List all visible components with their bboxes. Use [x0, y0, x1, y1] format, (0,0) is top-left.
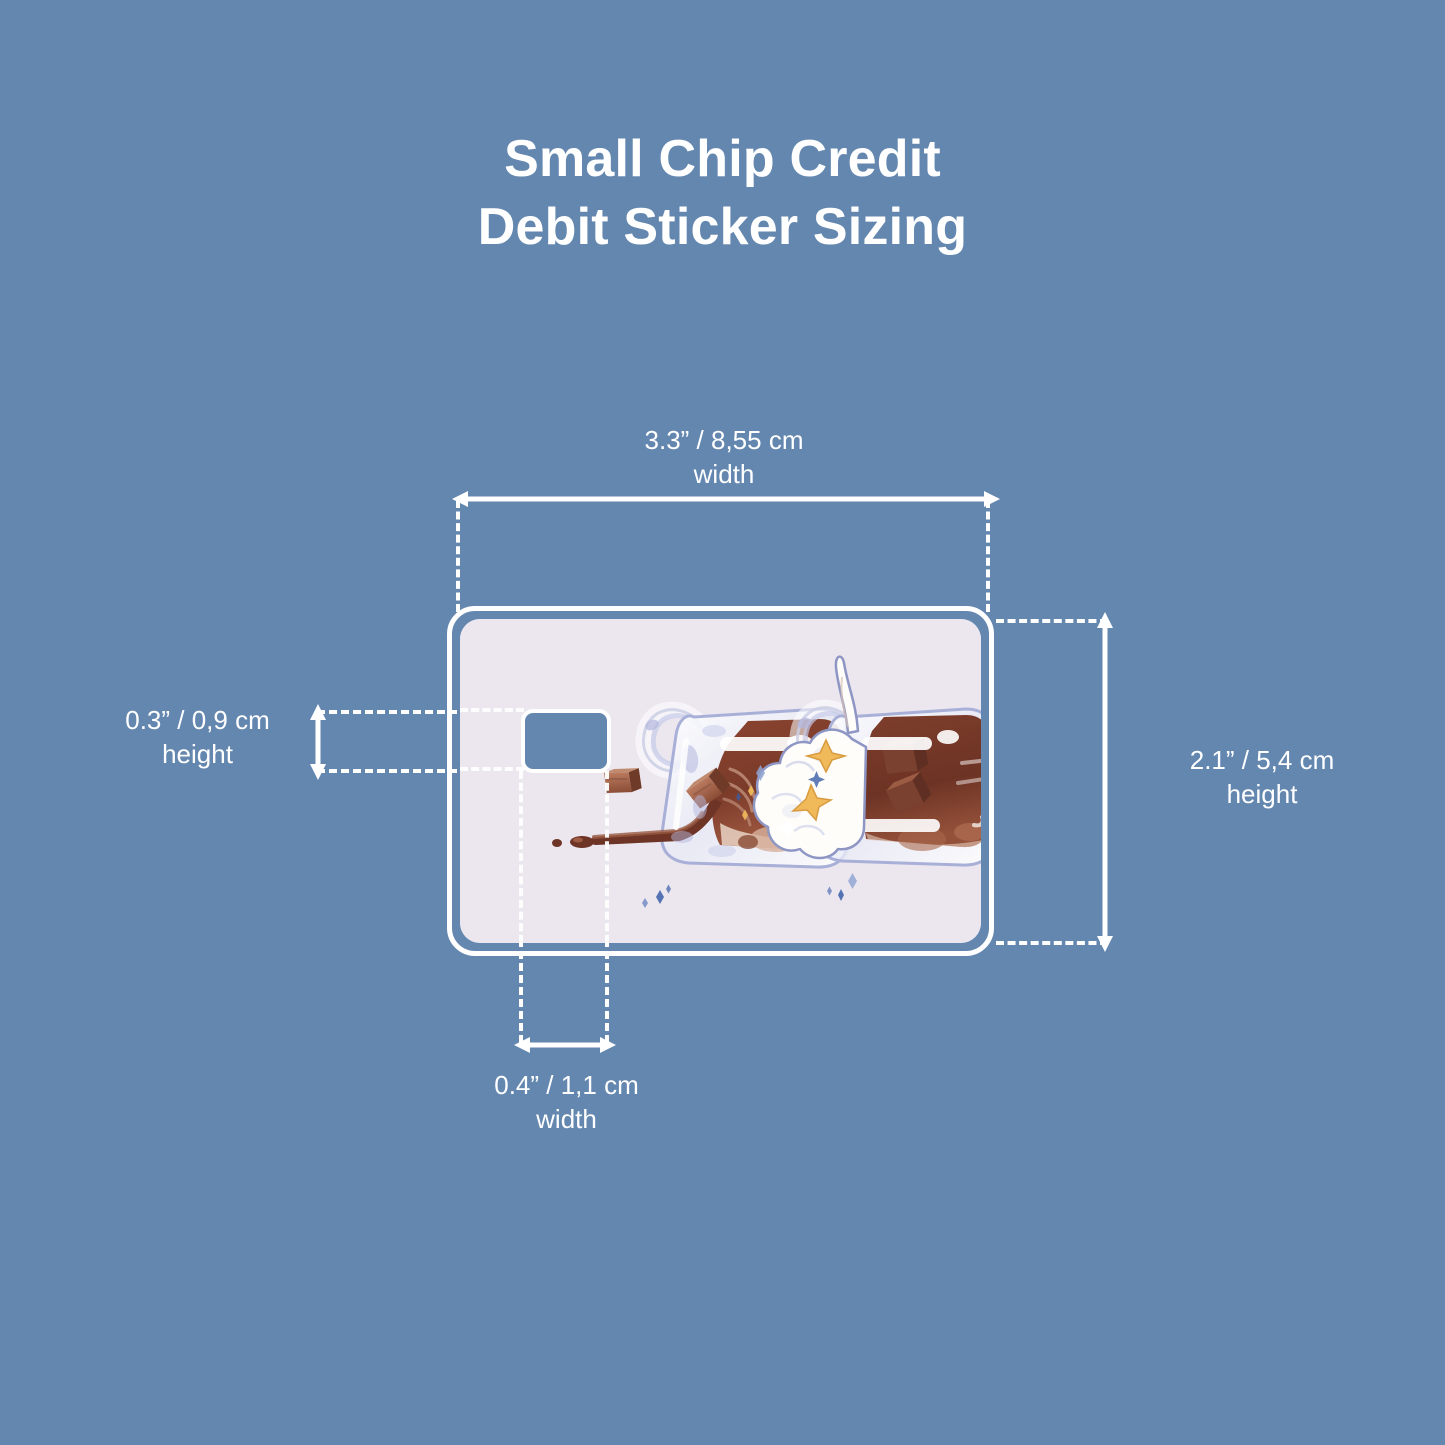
chip-width-label: 0.4” / 1,1 cm width [444, 1068, 689, 1137]
card-height-value: 2.1” / 5,4 cm [1122, 743, 1402, 777]
page-title-line-2: Debit Sticker Sizing [0, 194, 1445, 262]
chip-width-unit: width [444, 1102, 689, 1136]
chip-width-arrow [512, 1032, 618, 1058]
card-guide-chip-width-right [605, 771, 609, 943]
chip-height-value: 0.3” / 0,9 cm [60, 703, 335, 737]
sticker-card[interactable] [460, 619, 981, 943]
chip-height-label: 0.3” / 0,9 cm height [60, 703, 335, 772]
page-title-line-1: Small Chip Credit [0, 126, 1445, 194]
chip-height-arrow [305, 702, 331, 782]
card-height-arrow [1092, 610, 1118, 954]
page-title: Small Chip Credit Debit Sticker Sizing [0, 126, 1445, 261]
card-guide-chip-width-left [519, 771, 523, 943]
guide-line-card-width-left [456, 500, 460, 612]
card-width-value: 3.3” / 8,55 cm [504, 423, 944, 457]
card-height-unit: height [1122, 777, 1402, 811]
card-width-arrow [450, 486, 1002, 512]
card-guide-chip-height-top [460, 708, 524, 712]
chip-height-unit: height [60, 737, 335, 771]
card-guide-chip-height-bottom [460, 767, 524, 771]
card-artwork [460, 619, 981, 943]
card-chip[interactable] [521, 709, 611, 773]
card-height-label: 2.1” / 5,4 cm height [1122, 743, 1402, 812]
chip-width-value: 0.4” / 1,1 cm [444, 1068, 689, 1102]
card-width-label: 3.3” / 8,55 cm width [504, 423, 944, 492]
guide-line-card-width-right [986, 500, 990, 612]
